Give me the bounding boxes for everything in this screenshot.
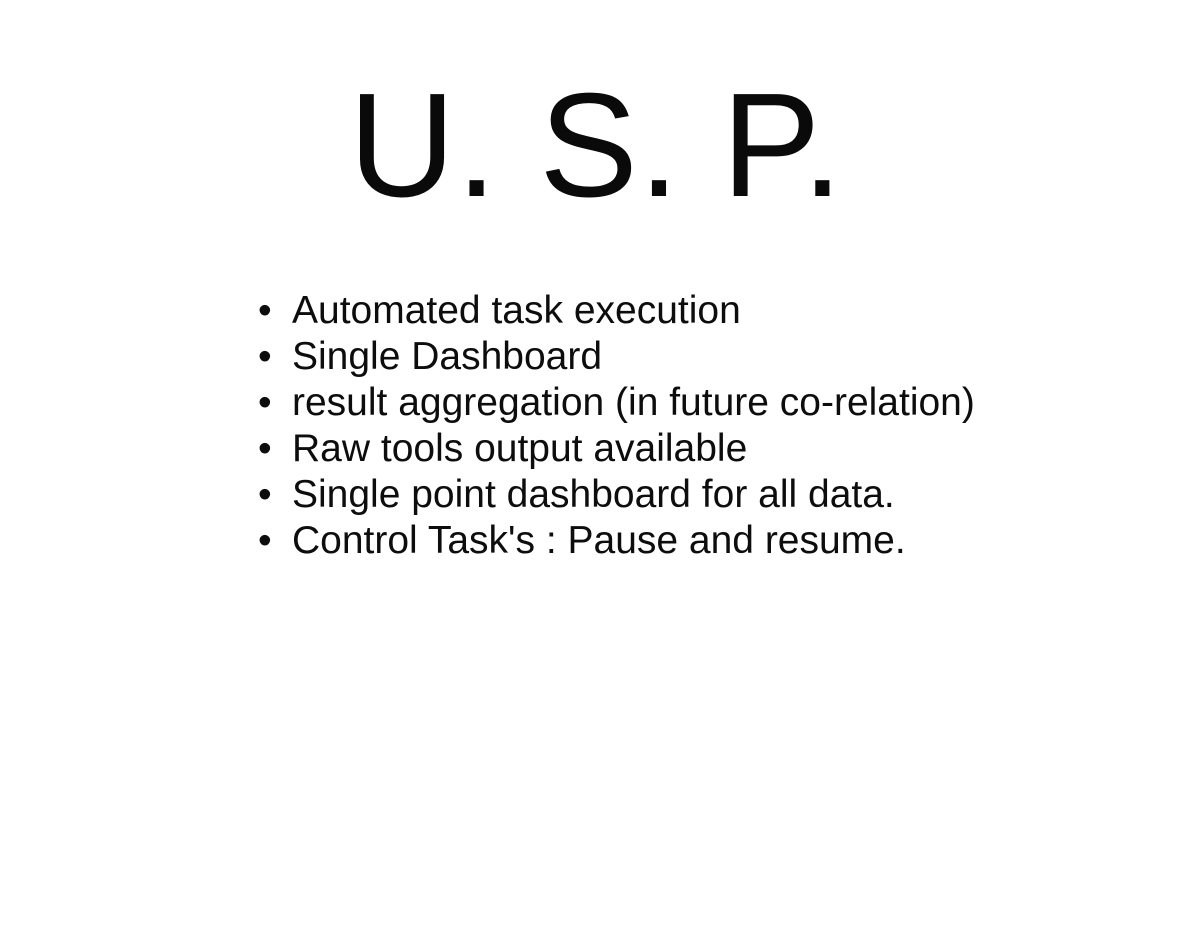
list-item-label: result aggregation (in future co-relatio… [292,380,975,426]
bullet-point-icon: • [258,518,292,564]
bullet-point-icon: • [258,426,292,472]
list-item-label: Raw tools output available [292,426,747,472]
list-item: • Single Dashboard [258,334,1158,380]
list-item: • result aggregation (in future co-relat… [258,380,1158,426]
list-item-label: Control Task's : Pause and resume. [292,518,906,564]
list-item-label: Single point dashboard for all data. [292,472,895,518]
feature-bullet-list: • Automated task execution • Single Dash… [258,288,1158,564]
bullet-point-icon: • [258,288,292,334]
list-item: • Control Task's : Pause and resume. [258,518,1158,564]
page-title: U. S. P. [0,72,1200,220]
list-item: • Raw tools output available [258,426,1158,472]
list-item-label: Single Dashboard [292,334,602,380]
bullet-point-icon: • [258,472,292,518]
bullet-point-icon: • [258,334,292,380]
list-item: • Single point dashboard for all data. [258,472,1158,518]
bullet-point-icon: • [258,380,292,426]
list-item: • Automated task execution [258,288,1158,334]
list-item-label: Automated task execution [292,288,741,334]
presentation-slide: U. S. P. • Automated task execution • Si… [0,0,1200,928]
